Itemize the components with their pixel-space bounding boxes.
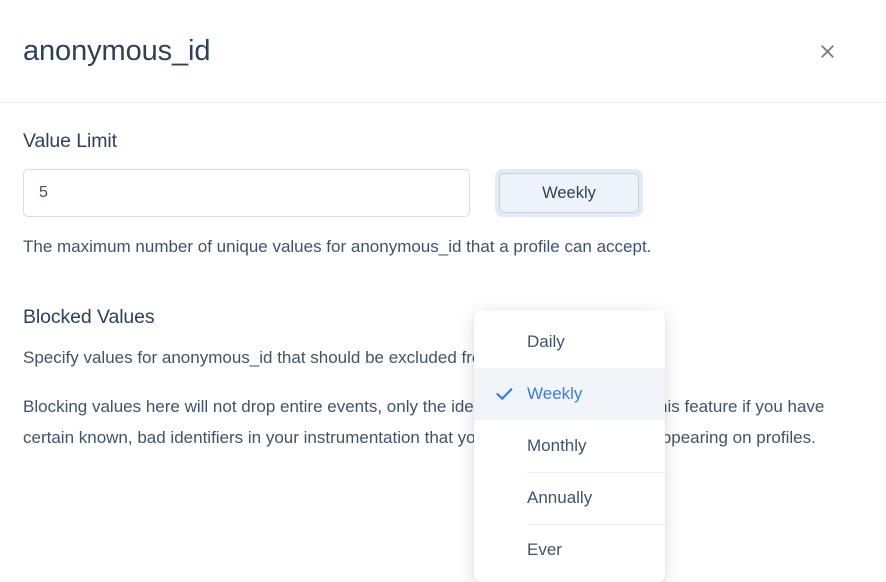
value-limit-input[interactable] [23, 169, 470, 217]
dropdown-option-label: Weekly [527, 384, 582, 404]
value-limit-help-text: The maximum number of unique values for … [23, 234, 862, 260]
blocked-values-paragraph-2: Blocking values here will not drop entir… [23, 391, 862, 453]
dropdown-option-weekly[interactable]: Weekly [474, 368, 665, 420]
dropdown-option-monthly[interactable]: Monthly [474, 420, 665, 472]
page-title: anonymous_id [23, 34, 210, 68]
dropdown-option-label: Ever [527, 540, 562, 560]
period-dropdown-menu: Daily Weekly Monthly [474, 310, 665, 582]
period-select-button[interactable]: Weekly [499, 173, 639, 213]
close-icon [819, 43, 836, 60]
dropdown-option-label: Annually [527, 488, 592, 508]
close-button[interactable] [814, 38, 840, 64]
blocked-values-heading: Blocked Values [23, 305, 862, 329]
modal-header: anonymous_id [0, 0, 886, 103]
blocked-values-section: Blocked Values Specify values for anonym… [23, 305, 862, 453]
dropdown-option-annually[interactable]: Annually [474, 472, 665, 524]
blocked-values-paragraph-1: Specify values for anonymous_id that sho… [23, 342, 862, 373]
dropdown-option-label: Daily [527, 332, 565, 352]
modal-body: Value Limit Weekly The maximum number of… [0, 103, 886, 532]
dropdown-option-daily[interactable]: Daily [474, 316, 665, 368]
modal-dialog: anonymous_id Value Limit Weekly The maxi… [0, 0, 886, 532]
value-limit-heading: Value Limit [23, 129, 862, 153]
check-icon [496, 386, 513, 403]
period-button-focus-ring: Weekly [495, 169, 643, 217]
dropdown-option-label: Monthly [527, 436, 587, 456]
value-limit-field-row: Weekly [23, 169, 862, 217]
